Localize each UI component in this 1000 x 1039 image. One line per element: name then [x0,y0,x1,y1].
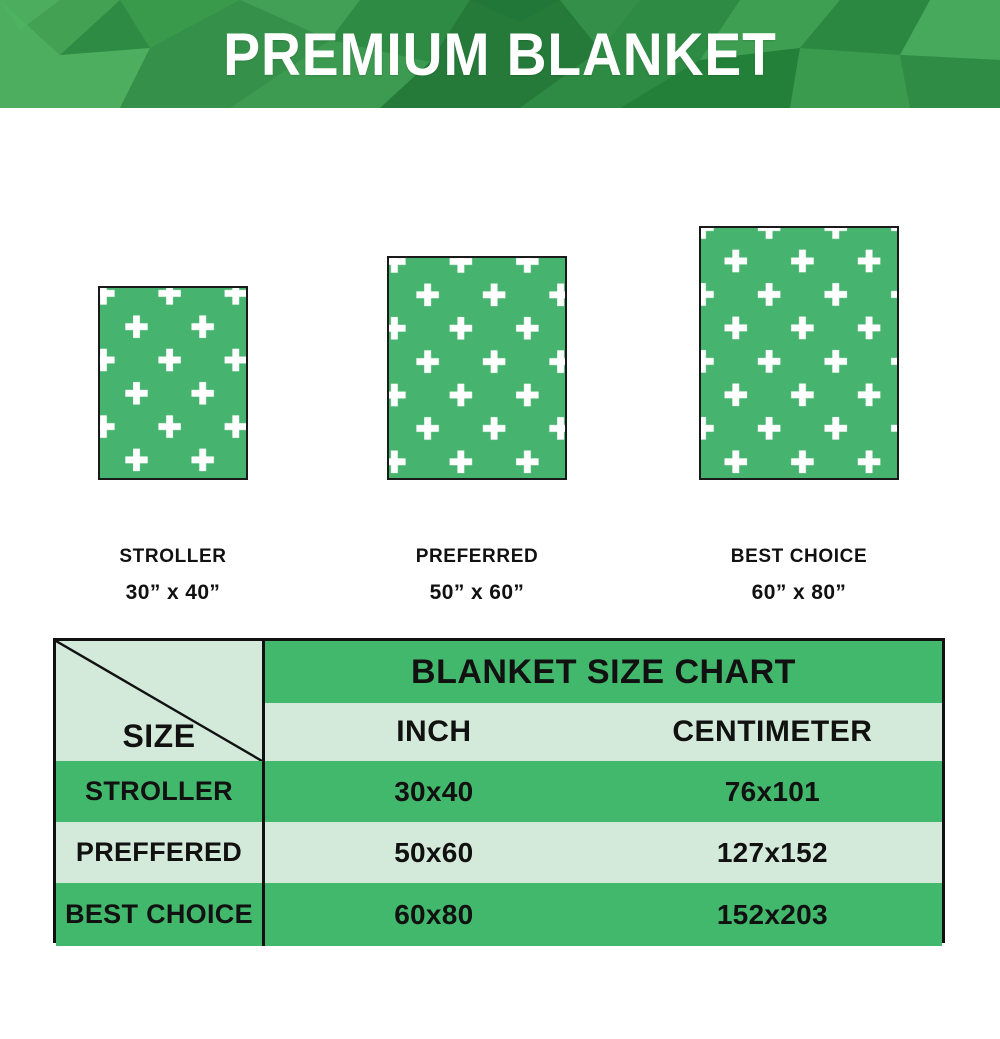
table-cell-inch-stroller: 30x40 [264,761,603,822]
table-cell-size-stroller: STROLLER [56,761,264,822]
table-row: PREFFERED 50x60 127x152 [56,822,942,883]
blanket-swatch-preferred [387,256,567,480]
header-banner: PREMIUM BLANKET [0,0,1000,108]
swatch-label-stroller: STROLLER [3,546,343,568]
table-cell-size-preffered: PREFFERED [56,822,264,883]
plus-cross-pattern-icon [701,228,897,478]
blanket-swatch-section: STROLLER 30” x 40” [0,108,1000,628]
swatch-dimensions-stroller: 30” x 40” [3,581,343,605]
table-column-header-centimeter: CENTIMETER [603,703,942,761]
table-header-title-row: SIZE BLANKET SIZE CHART [56,641,942,703]
blanket-swatch-stroller [98,286,248,480]
plus-cross-pattern-icon [389,258,565,478]
swatch-dimensions-best-choice: 60” x 80” [629,581,969,605]
table-cell-inch-best-choice: 60x80 [264,883,603,946]
table-cell-inch-preffered: 50x60 [264,822,603,883]
plus-cross-pattern-icon [100,288,246,478]
swatch-label-preferred: PREFERRED [307,546,647,568]
swatch-group-best-choice: BEST CHOICE 60” x 80” [629,108,969,628]
table-cell-centimeter-stroller: 76x101 [603,761,942,822]
blanket-swatch-best-choice [699,226,899,480]
table-corner-label: SIZE [56,718,262,755]
table-row: BEST CHOICE 60x80 152x203 [56,883,942,946]
swatch-group-preferred: PREFERRED 50” x 60” [307,108,647,628]
swatch-label-best-choice: BEST CHOICE [629,546,969,568]
page-title: PREMIUM BLANKET [40,0,960,108]
table-title-cell: BLANKET SIZE CHART [264,641,943,703]
table-column-header-inch: INCH [264,703,603,761]
table-cell-centimeter-best-choice: 152x203 [603,883,942,946]
table-row: STROLLER 30x40 76x101 [56,761,942,822]
swatch-dimensions-preferred: 50” x 60” [307,581,647,605]
table-corner-size-cell: SIZE [56,641,264,761]
table-cell-size-best-choice: BEST CHOICE [56,883,264,946]
swatch-group-stroller: STROLLER 30” x 40” [3,108,343,628]
table-cell-centimeter-preffered: 127x152 [603,822,942,883]
blanket-size-chart-table: SIZE BLANKET SIZE CHART INCH CENTIMETER … [53,638,945,943]
